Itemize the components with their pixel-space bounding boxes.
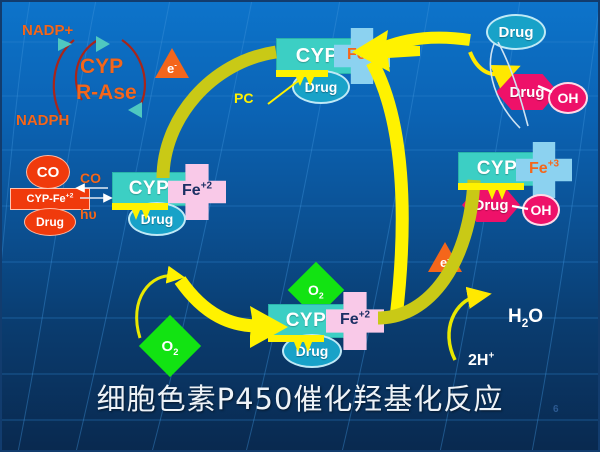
hv-arrow-label: hυ bbox=[80, 206, 97, 222]
cycle-arrow-yellow-right bbox=[356, 52, 402, 318]
page-number: 6 bbox=[553, 404, 559, 415]
co-arrow-label: CO bbox=[80, 170, 101, 186]
pc-leader-line bbox=[268, 78, 302, 104]
o2-entry-arrow bbox=[137, 276, 176, 338]
heme-fork-top bbox=[276, 70, 328, 86]
cyp-reductase-label-line2: R-Ase bbox=[76, 81, 137, 105]
reductase-cycle-arrows bbox=[54, 40, 145, 118]
drug-oh-bond-right bbox=[512, 206, 528, 209]
water-formation-arrow bbox=[449, 296, 478, 360]
co-exchange-arrows bbox=[80, 188, 108, 198]
water-label: H2O bbox=[508, 306, 543, 328]
pc-label: PC bbox=[234, 90, 253, 106]
nadp-plus-label: NADP+ bbox=[22, 22, 73, 39]
protons-label: 2H+ bbox=[468, 352, 494, 370]
heme-fork-left bbox=[112, 203, 168, 220]
drug-release-connector bbox=[490, 42, 528, 128]
cycle-arrow-olive-left bbox=[163, 52, 276, 178]
page-title: 细胞色素P450催化羟基化反应 bbox=[0, 376, 600, 418]
drug-oh-bond-top bbox=[538, 86, 552, 92]
drug-to-drugoh-arrow bbox=[470, 52, 506, 74]
slide-canvas: NADP+ NADPH CYP R-Ase e- CO CYP-Fe+2 Dru… bbox=[0, 0, 600, 452]
heme-fork-bottom bbox=[268, 335, 324, 352]
nadph-label: NADPH bbox=[16, 112, 69, 129]
cyp-reductase-label-line1: CYP bbox=[80, 55, 123, 79]
